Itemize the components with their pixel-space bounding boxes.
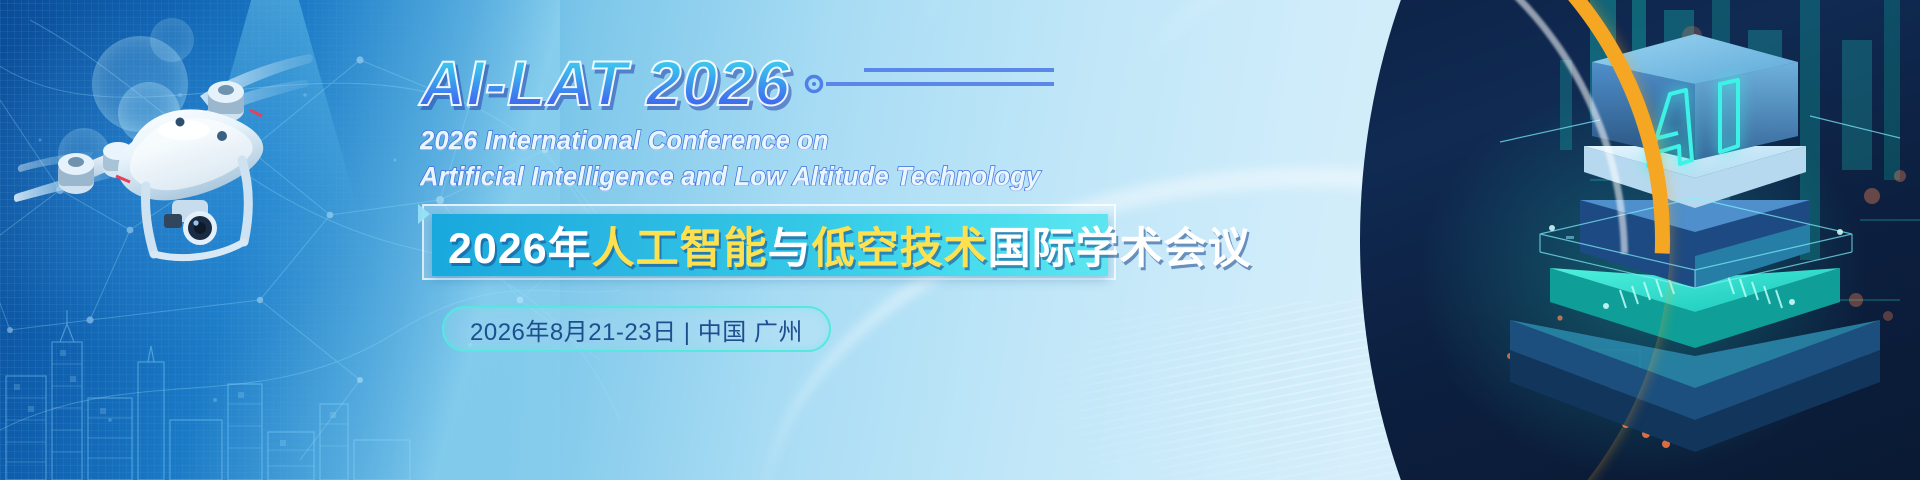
- chinese-title-part-conference: 国际学术会议: [988, 214, 1252, 276]
- chinese-title-bar: 2026年 人工智能 与 低空技术 国际学术会议: [420, 210, 1120, 280]
- banner-content: AI-LAT 2026 2026 International Conferenc…: [420, 48, 1140, 352]
- date-location-badge: 2026年8月21-23日 | 中国 广州: [442, 306, 831, 352]
- chinese-title-part-ai: 人工智能: [592, 214, 768, 276]
- chinese-title-part-and: 与: [768, 214, 812, 276]
- conference-subtitle-line2: Artificial Intelligence and Low Altitude…: [420, 162, 1140, 192]
- title-line-decoration: [804, 54, 1054, 114]
- chinese-title-part-lat: 低空技术: [812, 214, 988, 276]
- drone-illustration: [14, 10, 344, 280]
- city-skyline-decoration: [0, 280, 460, 480]
- conference-banner: AI AI-LAT 2026: [0, 0, 1920, 480]
- title-row: AI-LAT 2026: [420, 48, 1140, 120]
- conference-subtitle-line1: 2026 International Conference on: [420, 126, 1140, 156]
- conference-acronym-title: AI-LAT 2026: [420, 51, 790, 117]
- chinese-title-part-year: 2026年: [448, 214, 592, 276]
- right-tech-panel: AI: [1260, 0, 1920, 480]
- chinese-title-text: 2026年 人工智能 与 低空技术 国际学术会议: [448, 216, 1252, 274]
